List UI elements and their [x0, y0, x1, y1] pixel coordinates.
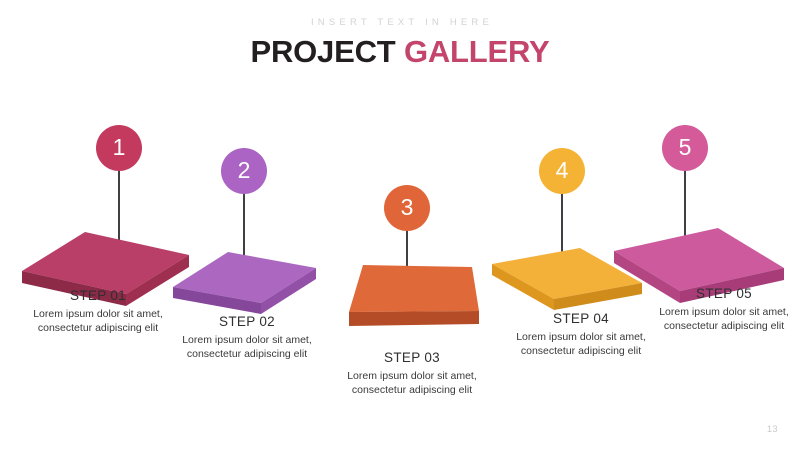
- slide-header: INSERT TEXT IN HERE PROJECT GALLERY: [0, 0, 800, 69]
- step-caption-5: STEP 05 Lorem ipsum dolor sit amet, cons…: [629, 286, 800, 334]
- slide-canvas: INSERT TEXT IN HERE PROJECT GALLERY 1 ST…: [0, 0, 800, 450]
- step-description-4: Lorem ipsum dolor sit amet, consectetur …: [486, 330, 676, 358]
- step-slab-2[interactable]: [160, 252, 325, 320]
- step-marker-label-4: 4: [556, 159, 569, 182]
- step-marker-label-5: 5: [679, 136, 692, 159]
- step-marker-3[interactable]: 3: [384, 185, 430, 231]
- page-number: 13: [767, 424, 778, 434]
- slab-top-face-3: [349, 265, 479, 312]
- step-marker-5[interactable]: 5: [662, 125, 708, 171]
- step-caption-2: STEP 02 Lorem ipsum dolor sit amet, cons…: [152, 314, 342, 362]
- header-eyebrow: INSERT TEXT IN HERE: [0, 18, 800, 28]
- step-marker-1[interactable]: 1: [96, 125, 142, 171]
- step-slab-3[interactable]: [338, 265, 486, 337]
- step-description-3: Lorem ipsum dolor sit amet, consectetur …: [317, 369, 507, 397]
- step-description-2: Lorem ipsum dolor sit amet, consectetur …: [152, 333, 342, 361]
- step-title-3: STEP 03: [317, 350, 507, 366]
- step-marker-4[interactable]: 4: [539, 148, 585, 194]
- slab-front-face-3: [349, 311, 479, 326]
- step-marker-2[interactable]: 2: [221, 148, 267, 194]
- step-marker-label-1: 1: [113, 136, 126, 159]
- page-title-part1: PROJECT: [250, 34, 395, 69]
- step-title-2: STEP 02: [152, 314, 342, 330]
- step-description-5: Lorem ipsum dolor sit amet, consectetur …: [629, 305, 800, 333]
- step-marker-label-2: 2: [238, 159, 251, 182]
- step-caption-3: STEP 03 Lorem ipsum dolor sit amet, cons…: [317, 350, 507, 398]
- step-title-5: STEP 05: [629, 286, 800, 302]
- step-marker-label-3: 3: [401, 196, 414, 219]
- page-title-part2: GALLERY: [404, 34, 550, 69]
- page-title: PROJECT GALLERY: [0, 34, 800, 70]
